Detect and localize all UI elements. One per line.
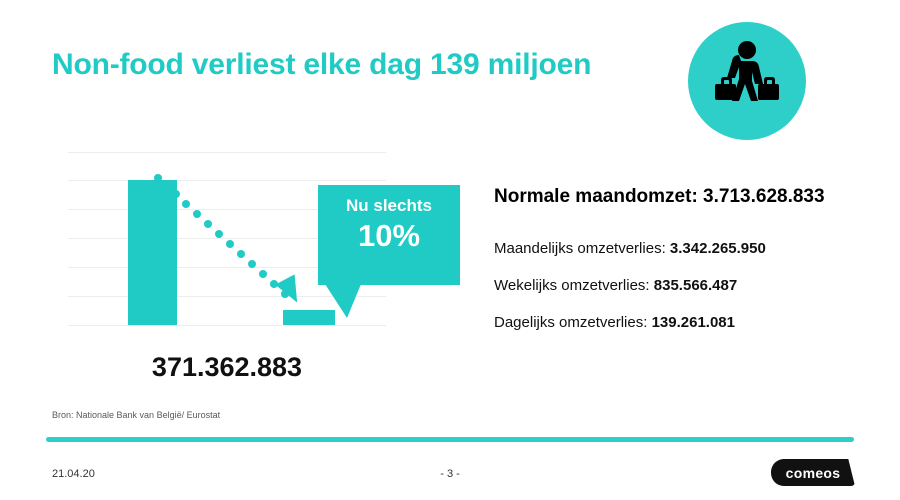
list-item: Maandelijks omzetverlies: 3.342.265.950 [494,240,894,257]
current-revenue-value: 371.362.883 [68,352,386,383]
chart-trend-dot [237,250,245,258]
chart-trend-dot [259,270,267,278]
footer-page-number: - 3 - [0,468,900,480]
list-item: Wekelijks omzetverlies: 835.566.487 [494,277,894,294]
stats-list: Maandelijks omzetverlies: 3.342.265.950 … [494,240,894,351]
slide-canvas: Non-food verliest elke dag 139 miljoen [0,0,900,500]
stat-value: 139.261.081 [652,314,735,331]
stats-headline: Normale maandomzet: 3.713.628.833 [494,186,825,208]
callout-bubble: Nu slechts 10% [318,185,460,285]
page-title: Non-food verliest elke dag 139 miljoen [52,48,591,82]
stat-value: 835.566.487 [654,277,737,294]
chart-trend-dot [248,260,256,268]
chart-trend-dot [154,174,162,182]
stat-value: 3.342.265.950 [670,240,766,257]
stat-label: Dagelijks omzetverlies: [494,314,647,331]
chart-trend-dot [193,210,201,218]
chart-gridline [68,152,386,153]
pedestrian-with-shopping-bags-icon [688,22,806,140]
chart-trend-dot [226,240,234,248]
chart-gridline [68,325,386,326]
chart-trend-dot [204,220,212,228]
chart-trend-dot [182,200,190,208]
callout-value: 10% [318,218,460,254]
chart-trend-dot [172,190,180,198]
stat-label: Wekelijks omzetverlies: [494,277,650,294]
chart-trend-dot [215,230,223,238]
stat-label: Maandelijks omzetverlies: [494,240,666,257]
callout-label: Nu slechts [318,197,460,216]
list-item: Dagelijks omzetverlies: 139.261.081 [494,314,894,331]
chart-bar-normale-maandomzet [128,180,177,325]
comeos-logo: comeos [771,459,855,486]
callout-tail [325,284,361,318]
source-note: Bron: Nationale Bank van België/ Eurosta… [52,410,220,420]
chart-gridline [68,180,386,181]
footer-divider [46,437,854,442]
chart-trend-arrowhead [275,274,307,307]
